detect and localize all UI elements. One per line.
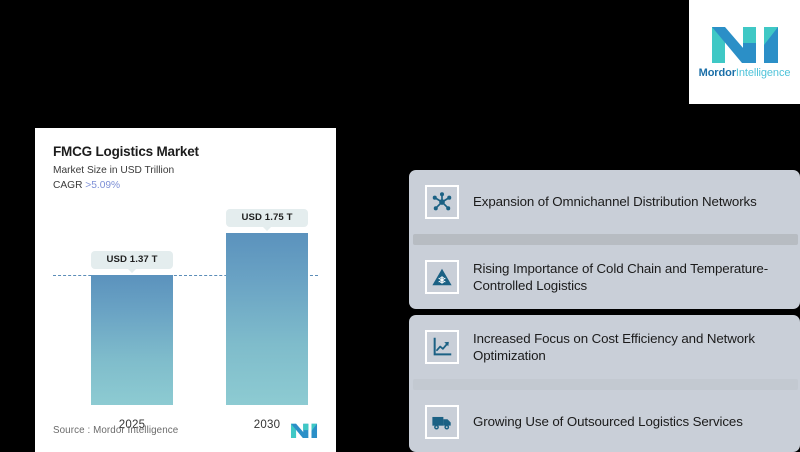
drivers-panel-bottom: Increased Focus on Cost Efficiency and N… (409, 315, 800, 452)
growth-chart-icon (425, 330, 459, 364)
bar-value-callout-2030: USD 1.75 T (226, 209, 308, 227)
panel-divider-light (413, 379, 798, 390)
growth-chart-icon-glyph (431, 336, 453, 358)
brand-wordmark-light: Intelligence (736, 67, 790, 79)
bar-value-callout-2025: USD 1.37 T (91, 251, 173, 269)
brand-plate: MordorIntelligence (689, 0, 800, 104)
brand-wordmark-bold: Mordor (699, 67, 736, 79)
mordor-m-logo-icon (712, 25, 778, 63)
driver-item-outsourced-logistics[interactable]: Growing Use of Outsourced Logistics Serv… (409, 390, 800, 452)
slide-root: MordorIntelligence FMCG Logistics Market… (0, 0, 800, 452)
delivery-truck-icon (425, 405, 459, 439)
bar-chart-plot: USD 1.37 T USD 1.75 T 2025 2030 (53, 203, 318, 435)
chart-title: FMCG Logistics Market (53, 144, 318, 160)
driver-text-outsourced-logistics: Growing Use of Outsourced Logistics Serv… (473, 413, 743, 430)
chart-source-row: Source : Mordor Intelligence (53, 423, 318, 438)
bar-2030 (226, 233, 308, 405)
network-hub-icon-glyph (431, 191, 453, 213)
delivery-truck-icon-glyph (431, 411, 453, 433)
cagr-label: CAGR (53, 180, 82, 191)
source-label: Source : Mordor Intelligence (53, 425, 178, 436)
driver-item-cost-efficiency[interactable]: Increased Focus on Cost Efficiency and N… (409, 315, 800, 379)
chart-subtitle: Market Size in USD Trillion (53, 165, 318, 177)
chart-card: FMCG Logistics Market Market Size in USD… (35, 128, 336, 452)
chart-cagr: CAGR >5.09% (53, 180, 318, 192)
driver-text-omnichannel: Expansion of Omnichannel Distribution Ne… (473, 193, 757, 210)
mordor-m-logo-small-icon (290, 423, 318, 438)
network-hub-icon (425, 185, 459, 219)
bar-2025 (91, 275, 173, 405)
cagr-value: >5.09% (85, 180, 120, 191)
driver-item-omnichannel[interactable]: Expansion of Omnichannel Distribution Ne… (409, 170, 800, 234)
driver-text-cost-efficiency: Increased Focus on Cost Efficiency and N… (473, 330, 784, 364)
drivers-panel-top: Expansion of Omnichannel Distribution Ne… (409, 170, 800, 309)
snowflake-triangle-icon (425, 260, 459, 294)
brand-wordmark: MordorIntelligence (699, 68, 791, 79)
driver-item-cold-chain[interactable]: Rising Importance of Cold Chain and Temp… (409, 245, 800, 309)
driver-text-cold-chain: Rising Importance of Cold Chain and Temp… (473, 260, 784, 294)
panel-divider (413, 234, 798, 245)
snowflake-triangle-icon-glyph (431, 266, 453, 288)
